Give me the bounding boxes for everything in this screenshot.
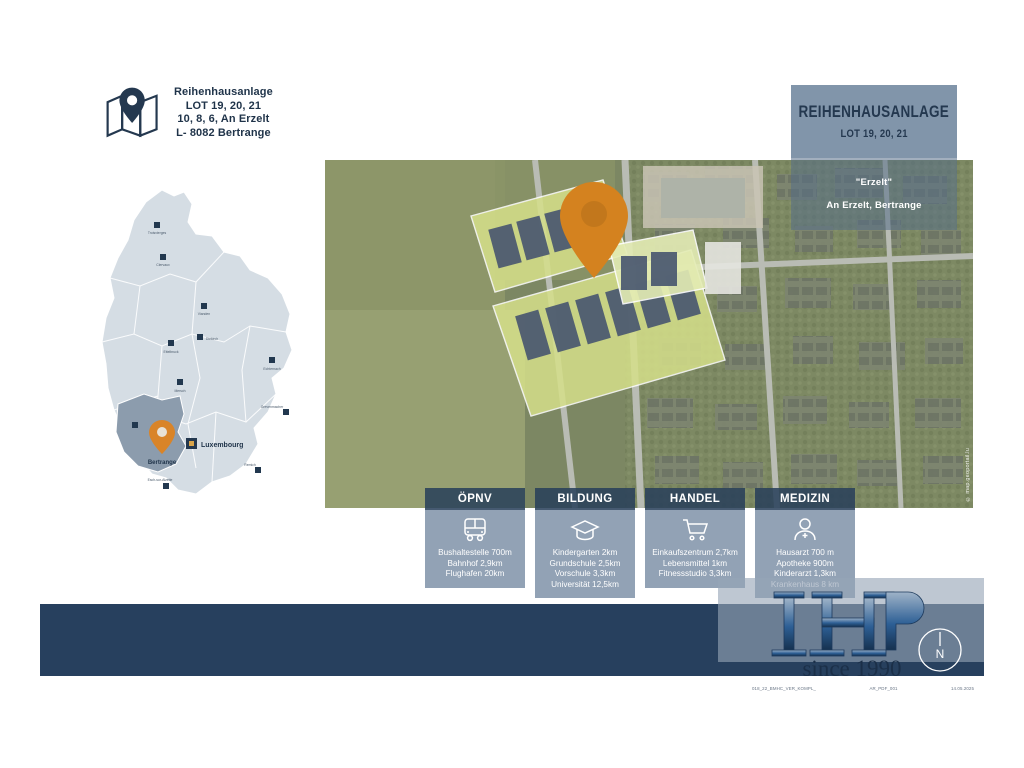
- amenity-body-opnv: Bushaltestelle 700m Bahnhof 2,9km Flugha…: [425, 510, 525, 588]
- svg-text:Grevenmacher: Grevenmacher: [261, 405, 284, 409]
- header-line-3: 10, 8, 6, An Erzelt: [174, 113, 273, 127]
- header-line-4: L- 8082 Bertrange: [174, 127, 273, 141]
- logo-tagline: since 1990: [802, 656, 901, 681]
- svg-text:N: N: [936, 647, 945, 661]
- header-address: Reihenhausanlage LOT 19, 20, 21 10, 8, 6…: [172, 86, 273, 140]
- project-lots: LOT 19, 20, 21: [840, 128, 907, 140]
- project-address: An Erzelt, Bertrange: [826, 200, 921, 211]
- amenity-item: Vorschule 3,3km: [550, 569, 621, 580]
- amenity-item: Kindergarten 2km: [550, 548, 621, 559]
- slide-canvas: Reihenhausanlage LOT 19, 20, 21 10, 8, 6…: [0, 0, 1024, 768]
- amenity-body-bildung: Kindergarten 2km Grundschule 2,5km Vorsc…: [535, 510, 635, 598]
- shopping-cart-icon: [680, 517, 710, 543]
- amenity-body-handel: Einkaufszentrum 2,7km Lebensmittel 1km F…: [645, 510, 745, 588]
- bus-icon: [460, 517, 490, 543]
- footer-drawing-ref: 018_22_BMHC_VER_KOMPL_: [752, 686, 816, 691]
- graduation-cap-icon: [570, 517, 600, 543]
- amenity-card-bildung[interactable]: BILDUNG Kindergarten 2km Grundschule 2,5…: [535, 488, 635, 598]
- svg-text:Ettelbruck: Ettelbruck: [163, 350, 178, 354]
- footer-plan-ref: AR_PDF_001: [869, 686, 897, 691]
- svg-text:Echternach: Echternach: [263, 367, 280, 371]
- svg-text:Bertrange: Bertrange: [148, 460, 177, 466]
- map-pin-icon: [104, 84, 162, 142]
- header-line-2: LOT 19, 20, 21: [174, 100, 273, 114]
- amenity-list-handel: Einkaufszentrum 2,7km Lebensmittel 1km F…: [652, 548, 738, 580]
- amenity-list-bildung: Kindergarten 2km Grundschule 2,5km Vorsc…: [550, 548, 621, 590]
- amenity-item: Grundschule 2,5km: [550, 559, 621, 570]
- amenity-card-opnv[interactable]: ÖPNV Bushaltestelle 700m Bahnhof 2,9km F…: [425, 488, 525, 588]
- amenity-item: Bushaltestelle 700m: [438, 548, 512, 559]
- amenity-item: Flughafen 20km: [438, 569, 512, 580]
- amenity-item: Hausarzt 700 m: [771, 548, 839, 559]
- svg-text:Vianden: Vianden: [198, 312, 210, 316]
- amenity-title-handel: HANDEL: [645, 488, 745, 510]
- footer-reference-line: 018_22_BMHC_VER_KOMPL_ AR_PDF_001 14.05.…: [752, 683, 974, 693]
- svg-text:Diekirch: Diekirch: [206, 337, 218, 341]
- svg-text:Luxembourg: Luxembourg: [201, 442, 243, 449]
- project-nickname: "Erzelt": [856, 177, 892, 188]
- svg-text:Remich: Remich: [244, 463, 256, 467]
- footer-date: 14.05.2025: [951, 686, 974, 691]
- luxembourg-country-map: Troisvierges Clervaux Vianden Diekirch E…: [100, 182, 300, 502]
- amenity-item: Universität 12,5km: [550, 580, 621, 591]
- amenity-title-medizin: MEDIZIN: [755, 488, 855, 510]
- title-subpanel: "Erzelt" An Erzelt, Bertrange: [791, 158, 957, 230]
- construction-area: [643, 166, 763, 228]
- amenity-title-opnv: ÖPNV: [425, 488, 525, 510]
- header-block: Reihenhausanlage LOT 19, 20, 21 10, 8, 6…: [104, 78, 324, 148]
- amenity-title-bildung: BILDUNG: [535, 488, 635, 510]
- company-logo: since 1990: [760, 588, 940, 688]
- doctor-icon: [790, 517, 820, 543]
- amenity-card-handel[interactable]: HANDEL Einkaufszentrum 2,7km Lebensmitte…: [645, 488, 745, 588]
- svg-text:Mersch: Mersch: [174, 389, 185, 393]
- svg-text:Esch-sur-Alzette: Esch-sur-Alzette: [148, 478, 173, 482]
- compass-north-icon: N: [917, 627, 963, 673]
- map-copyright: © map.geoportail.lu: [965, 448, 971, 502]
- title-panel: REIHENHAUSANLAGE LOT 19, 20, 21: [791, 85, 957, 158]
- header-line-1: Reihenhausanlage: [174, 86, 273, 100]
- amenity-item: Bahnhof 2,9km: [438, 559, 512, 570]
- amenity-item: Lebensmittel 1km: [652, 559, 738, 570]
- svg-text:Clervaux: Clervaux: [156, 263, 170, 267]
- amenity-list-opnv: Bushaltestelle 700m Bahnhof 2,9km Flugha…: [438, 548, 512, 580]
- project-title: REIHENHAUSANLAGE: [799, 103, 950, 122]
- amenity-item: Apotheke 900m: [771, 559, 839, 570]
- svg-text:Troisvierges: Troisvierges: [148, 231, 167, 235]
- amenity-item: Einkaufszentrum 2,7km: [652, 548, 738, 559]
